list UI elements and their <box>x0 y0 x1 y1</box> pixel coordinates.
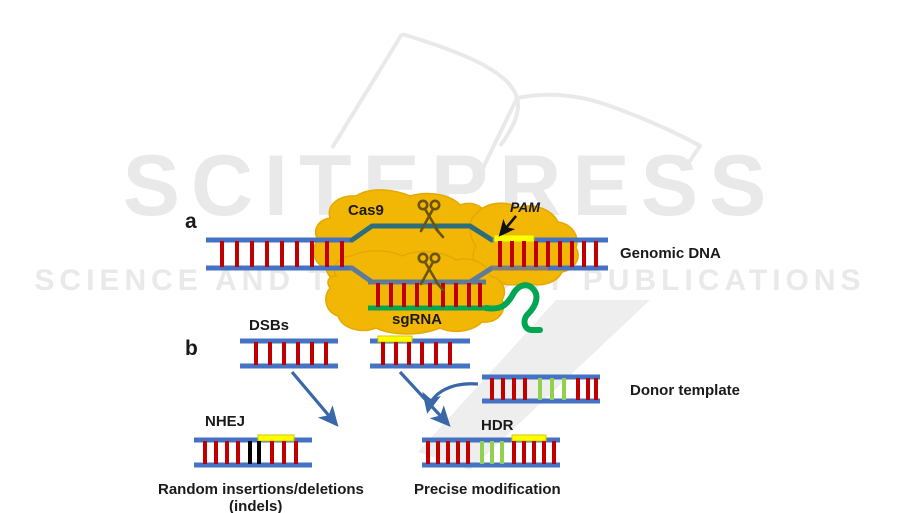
dsb-right-fragment <box>370 336 470 366</box>
figure-canvas: SCITEPRESS SCIENCE AND TECHNOLOGY PUBLIC… <box>0 0 901 513</box>
pam-site <box>494 235 534 242</box>
crispr-cas9-figure: SCITEPRESS SCIENCE AND TECHNOLOGY PUBLIC… <box>0 0 901 513</box>
hdr-label: HDR <box>481 417 514 434</box>
cas9-label: Cas9 <box>348 202 384 219</box>
arrow-to-hdr <box>400 372 448 424</box>
nhej-pam-marker <box>258 435 294 441</box>
hdr-outcome: Precise modification <box>414 481 561 498</box>
sgrna-label: sgRNA <box>392 311 442 328</box>
nhej-indel-bases <box>250 441 259 464</box>
hdr-pam-marker <box>512 435 546 441</box>
nhej-label: NHEJ <box>205 413 245 430</box>
nhej-outcome-line2: (indels) <box>229 498 282 513</box>
dsb-pam-marker <box>378 336 412 342</box>
nhej-product-dna <box>194 435 312 465</box>
panel-b-group: b DSBs <box>158 317 740 513</box>
nhej-outcome-line1: Random insertions/deletions <box>158 481 364 498</box>
pam-label: PAM <box>510 199 540 215</box>
donor-template-label: Donor template <box>630 382 740 399</box>
panel-b-label: b <box>185 337 198 360</box>
arrow-to-nhej <box>292 372 336 424</box>
panel-a-label: a <box>185 210 197 233</box>
dsbs-label: DSBs <box>249 317 289 334</box>
genomic-dna-label: Genomic DNA <box>620 245 721 262</box>
dsb-left-fragment <box>240 341 338 366</box>
